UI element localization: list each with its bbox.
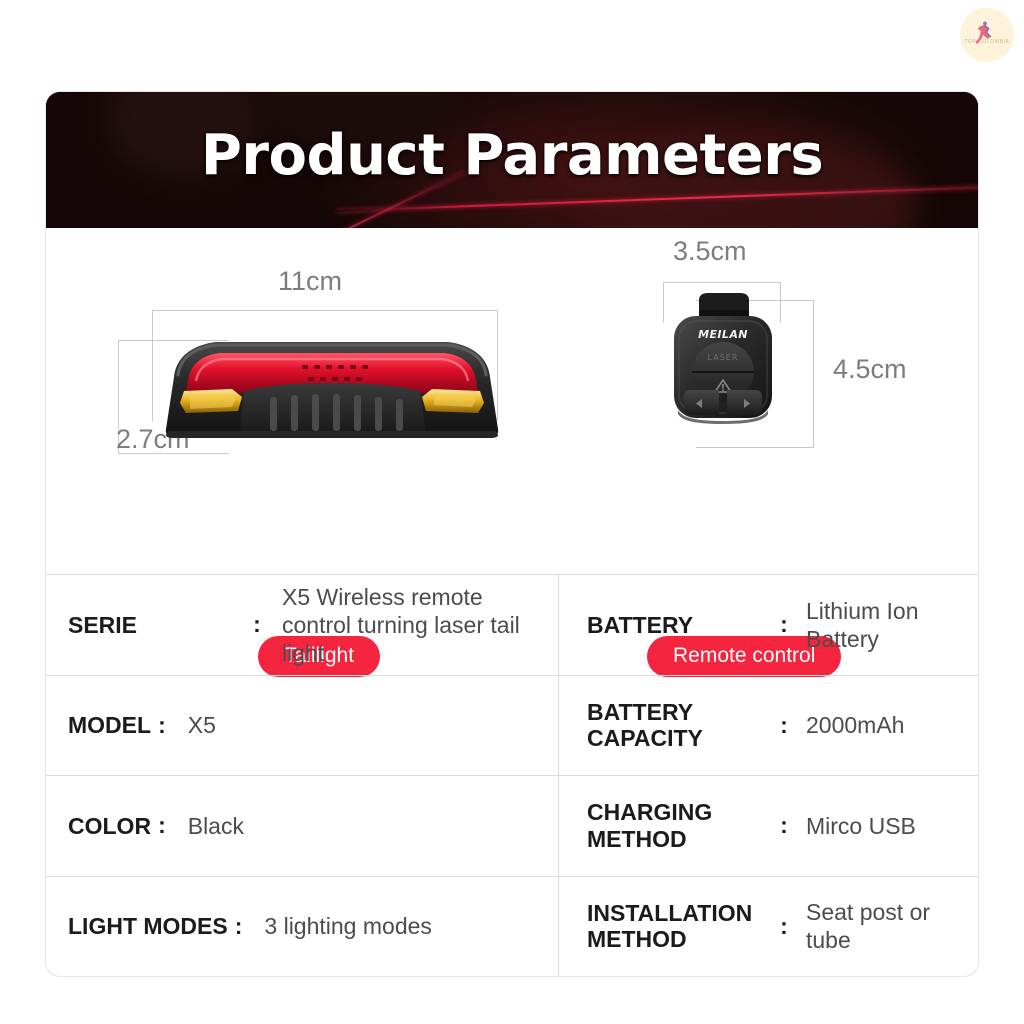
spec-key: LIGHT MODES <box>68 913 228 939</box>
spec-value: Mirco USB <box>806 812 978 840</box>
spec-key: MODEL <box>68 712 151 738</box>
remote-width-label: 3.5cm <box>673 236 747 267</box>
spec-colon: : <box>772 812 796 839</box>
table-row: CHARGING METHOD : Mirco USB <box>559 776 978 877</box>
spec-value: X5 <box>188 711 558 739</box>
spec-key: BATTERY CAPACITY <box>587 699 772 752</box>
table-row: COLOR : Black <box>46 776 558 877</box>
remote-laser-label: LASER <box>708 353 739 362</box>
spec-key: CHARGING METHOD <box>587 799 772 852</box>
spec-colon: : <box>235 913 243 940</box>
spec-colon: : <box>772 611 796 638</box>
spec-value: Lithium Ion Battery <box>806 597 978 653</box>
product-illustrations: 11cm 2.7cm <box>46 228 978 574</box>
spec-colon: : <box>772 712 796 739</box>
spec-key: INSTALLATION METHOD <box>587 900 772 953</box>
taillight-product-image <box>158 333 506 441</box>
remote-control-product-image: MEILAN LASER <box>666 288 778 448</box>
table-row: LIGHT MODES : 3 lighting modes <box>46 877 558 977</box>
remote-brand-text: MEILAN <box>698 328 748 341</box>
page-title: Product Parameters <box>46 123 978 188</box>
spec-colon: : <box>244 611 270 638</box>
watermark-text: TOP COLOMBIA <box>960 39 1014 45</box>
spec-key: COLOR <box>68 813 151 839</box>
banner-header: Product Parameters <box>46 92 978 228</box>
spec-key: BATTERY <box>587 612 772 638</box>
spec-colon: : <box>158 812 166 839</box>
remote-height-label: 4.5cm <box>833 354 907 385</box>
spec-value: Seat post or tube <box>806 898 978 954</box>
spec-value: 2000mAh <box>806 711 978 739</box>
specifications-table: SERIE : X5 Wireless remote control turni… <box>46 574 978 976</box>
table-row: BATTERY CAPACITY : 2000mAh <box>559 676 978 777</box>
taillight-width-label: 11cm <box>278 266 342 297</box>
spec-value: 3 lighting modes <box>264 912 558 940</box>
spec-colon: : <box>772 913 796 940</box>
watermark-logo: TOP COLOMBIA <box>960 8 1014 62</box>
spec-column-left: SERIE : X5 Wireless remote control turni… <box>46 575 559 976</box>
table-row: BATTERY : Lithium Ion Battery <box>559 575 978 676</box>
spec-key: SERIE <box>68 612 244 638</box>
spec-value: X5 Wireless remote control turning laser… <box>282 583 558 667</box>
table-row: MODEL : X5 <box>46 676 558 777</box>
table-row: SERIE : X5 Wireless remote control turni… <box>46 575 558 676</box>
product-parameters-card: Product Parameters 11cm 2.7cm <box>46 92 978 976</box>
spec-colon: : <box>158 712 166 739</box>
spec-value: Black <box>188 812 558 840</box>
spec-column-right: BATTERY : Lithium Ion Battery BATTERY CA… <box>559 575 978 976</box>
table-row: INSTALLATION METHOD : Seat post or tube <box>559 877 978 977</box>
